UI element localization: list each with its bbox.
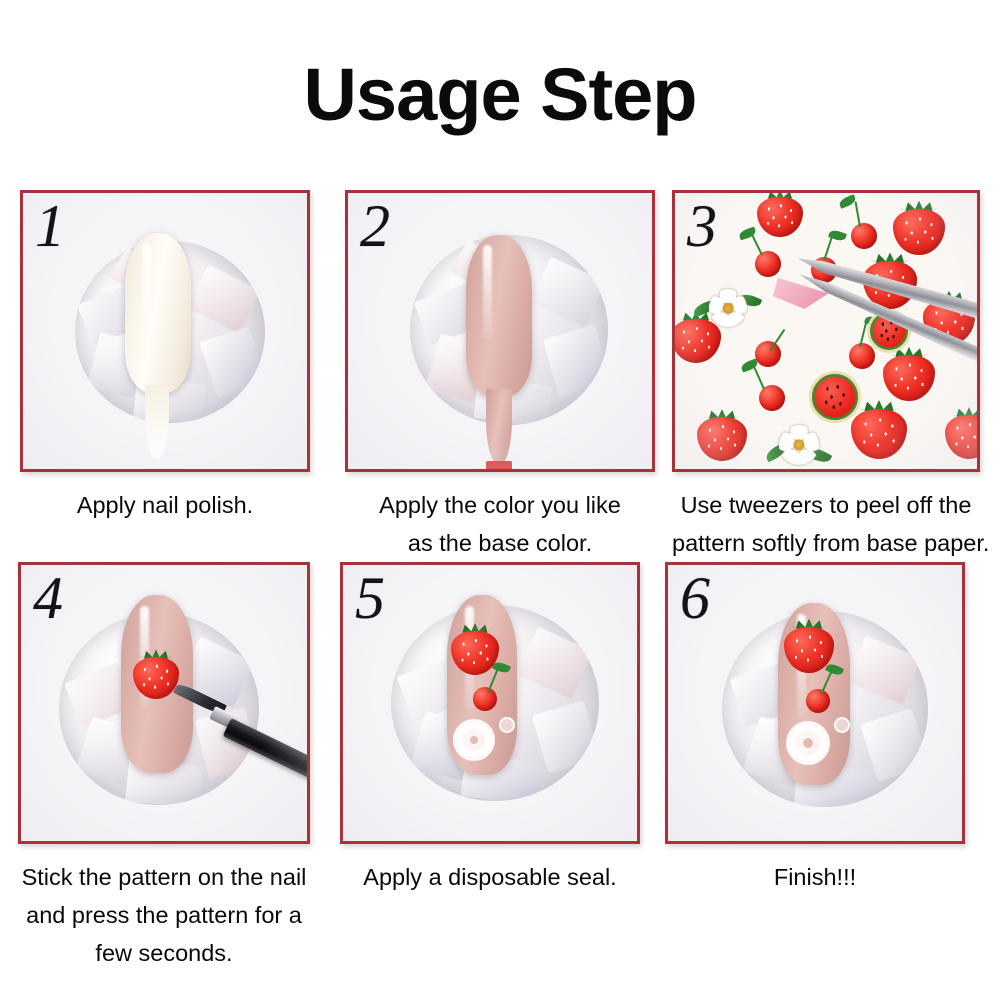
flower-sticker [779, 425, 819, 465]
step-caption-4: Stick the pattern on the nail and press … [18, 858, 310, 972]
step-number-4: 4 [33, 567, 63, 630]
page-title: Usage Step [0, 58, 1000, 132]
nail-base-color [466, 235, 532, 397]
nail-highlight [142, 243, 151, 336]
step-caption-3: Use tweezers to peel off the pattern sof… [672, 486, 980, 562]
dot-decal [499, 717, 515, 733]
cherry-sticker [755, 251, 781, 277]
step-image-3: 3 [672, 190, 980, 472]
nail-highlight [483, 245, 492, 339]
strawberry-sticker [757, 197, 803, 237]
step-image-4: 4 [18, 562, 310, 844]
strawberry-sticker [697, 417, 747, 461]
scene-cream-nail-on-crystal [23, 193, 307, 469]
step-image-1: 1 [20, 190, 310, 472]
step-card-5: 5 [340, 562, 640, 896]
step-card-6: 6 [665, 562, 965, 896]
swirl-decal [453, 719, 495, 761]
nail-drip [486, 389, 512, 465]
step-number-3: 3 [687, 195, 717, 258]
cherry-sticker [851, 223, 877, 249]
cherry-sticker [755, 341, 781, 367]
scene-pink-nail-on-crystal [348, 193, 652, 469]
step-image-6: 6 [665, 562, 965, 844]
step-image-5: 5 [340, 562, 640, 844]
usage-step-infographic: Usage Step 1 Apply na [0, 0, 1000, 1000]
scene-finished-nail [668, 565, 962, 841]
nail-drip [145, 385, 169, 459]
step-caption-2: Apply the color you like as the base col… [345, 486, 655, 562]
step-number-6: 6 [680, 567, 710, 630]
step-card-2: 2 Apply the color you like [345, 190, 655, 562]
step-caption-5: Apply a disposable seal. [340, 858, 640, 896]
cherry-decal [806, 689, 830, 713]
strawberry-sticker [945, 415, 980, 459]
step-card-4: 4 S [18, 562, 310, 972]
step-caption-1: Apply nail polish. [20, 486, 310, 524]
step-number-2: 2 [360, 195, 390, 258]
flower-sticker [709, 289, 747, 327]
nail-cream [125, 233, 191, 393]
scene-sticker-sheet [675, 193, 977, 469]
polish-brush-cap [486, 461, 512, 472]
cherry-decal [473, 687, 497, 711]
scene-sealed-nail [343, 565, 637, 841]
step-number-1: 1 [35, 195, 65, 258]
strawberry-decal [133, 657, 179, 699]
swirl-decal [786, 721, 830, 765]
cherry-sticker [759, 385, 785, 411]
step-card-3: 3 [672, 190, 980, 562]
watermelon-sticker [809, 371, 861, 423]
step-card-1: 1 Apply nail polish. [20, 190, 310, 524]
step-caption-6: Finish!!! [665, 858, 965, 896]
strawberry-sticker [893, 209, 945, 255]
step-image-2: 2 [345, 190, 655, 472]
dot-decal [834, 717, 850, 733]
scene-apply-decal [21, 565, 307, 841]
strawberry-sticker [883, 355, 935, 401]
step-number-5: 5 [355, 567, 385, 630]
